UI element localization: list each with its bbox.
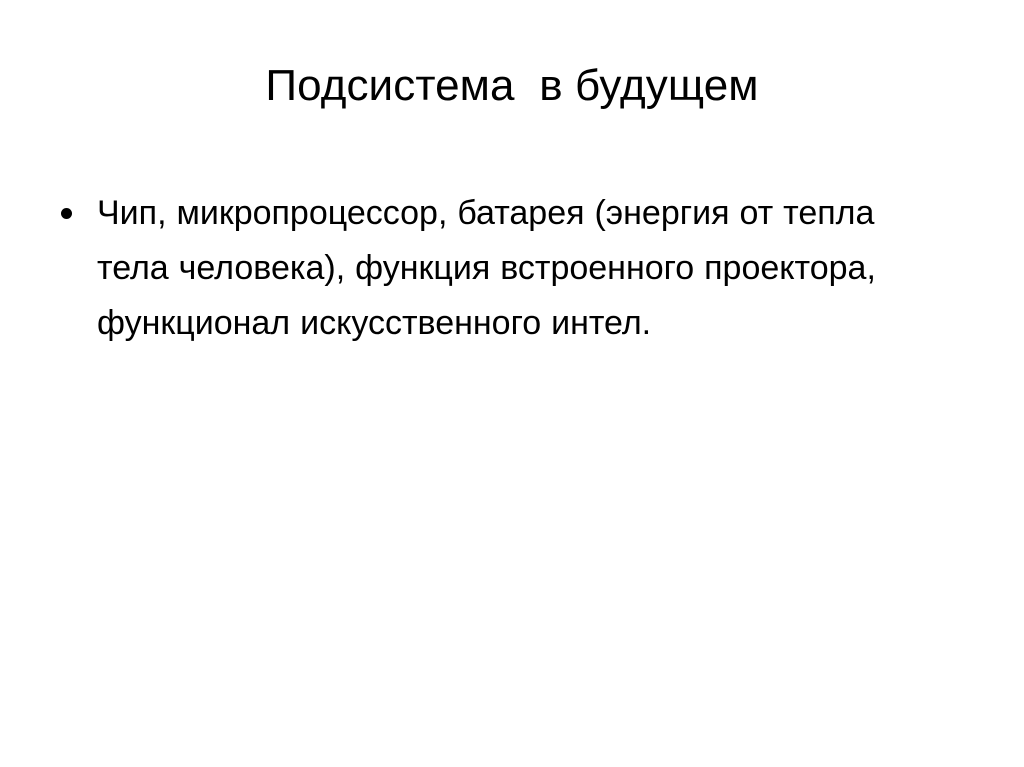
bullet-list: Чип, микропроцессор, батарея (энергия от… (56, 186, 956, 351)
list-item: Чип, микропроцессор, батарея (энергия от… (56, 186, 956, 351)
page-title: Подсистема в будущем (64, 58, 960, 114)
round-bullet-icon (61, 208, 72, 219)
list-item-text: Чип, микропроцессор, батарея (энергия от… (97, 186, 956, 351)
slide-canvas: Подсистема в будущем Чип, микропроцессор… (0, 0, 1024, 767)
slide-body: Чип, микропроцессор, батарея (энергия от… (56, 186, 956, 351)
